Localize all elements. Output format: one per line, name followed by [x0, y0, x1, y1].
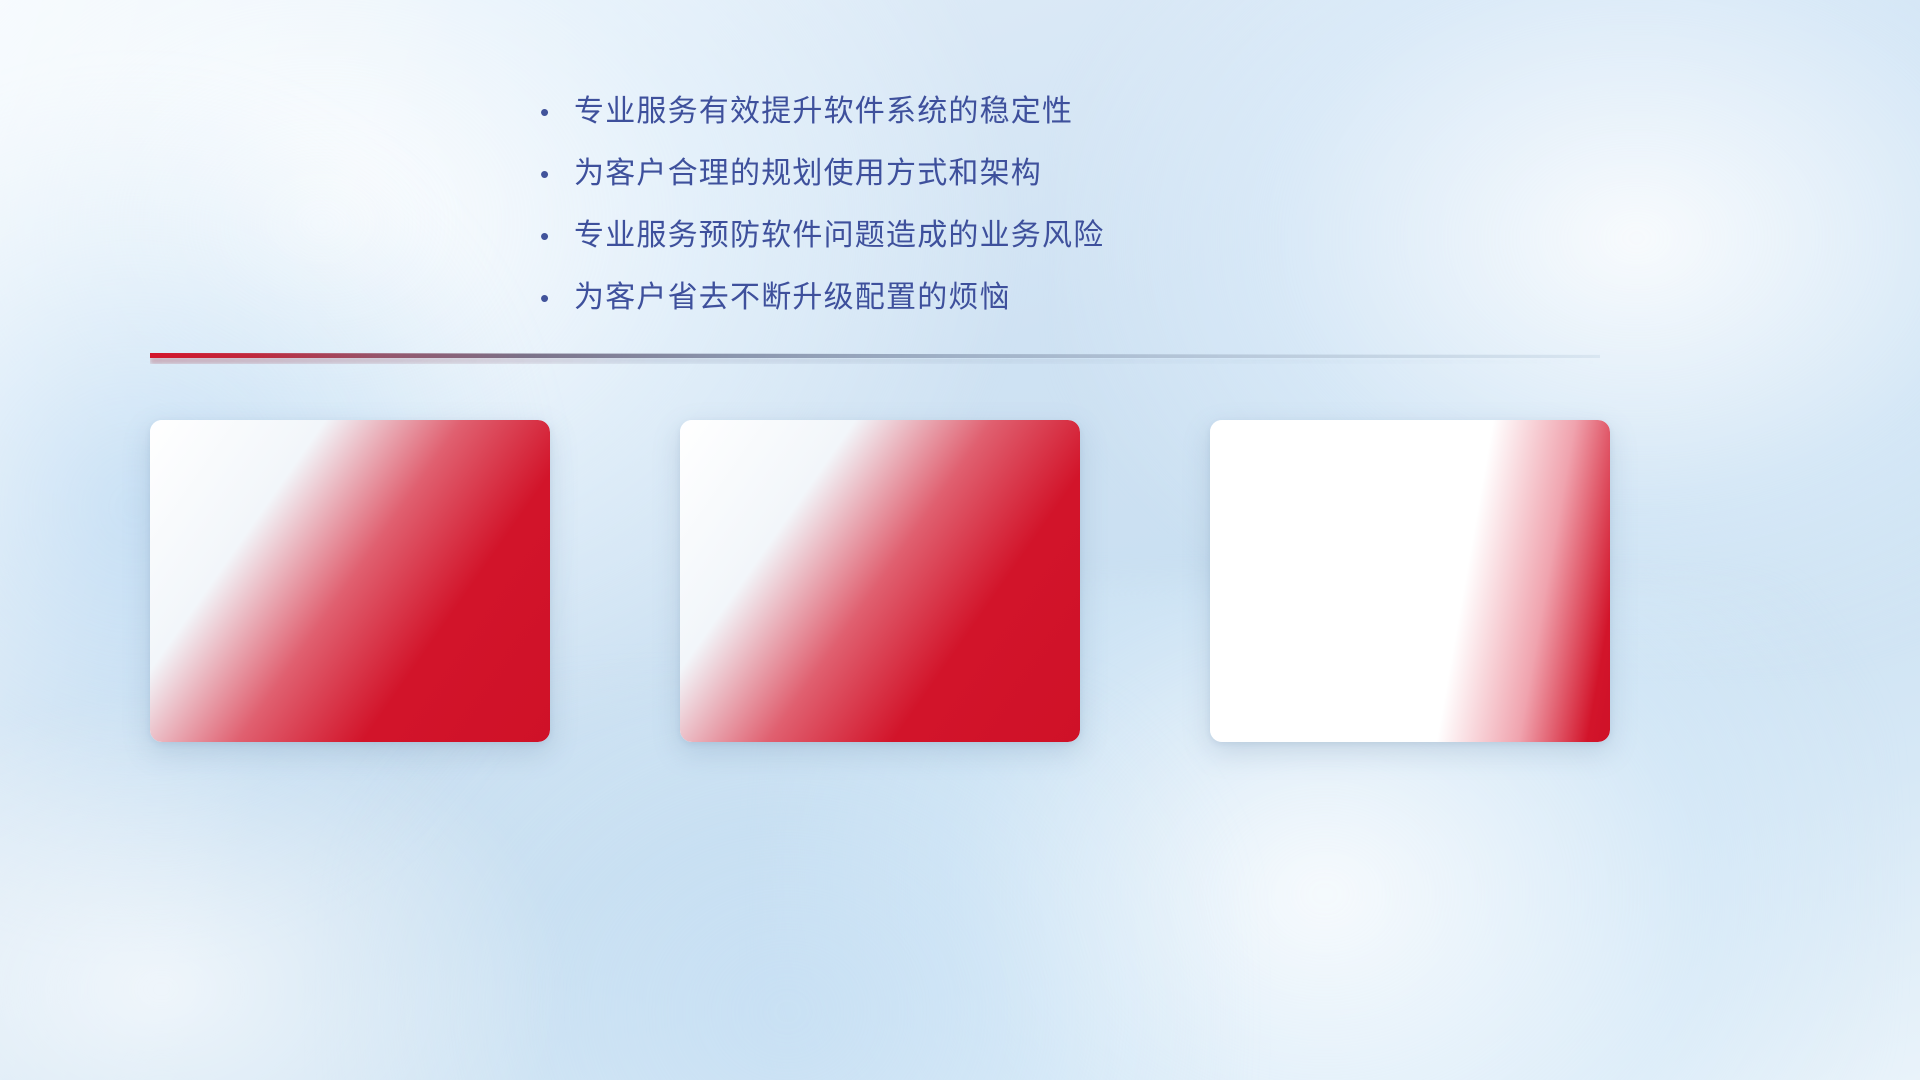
- bullet-dot-icon: •: [540, 216, 574, 256]
- list-item: • 为客户合理的规划使用方式和架构: [540, 154, 1160, 194]
- list-item: • 为客户省去不断升级配置的烦恼: [540, 278, 1160, 318]
- list-item: • 专业服务预防软件问题造成的业务风险: [540, 216, 1160, 256]
- card-accent-divider: [1376, 462, 1379, 540]
- service-card-03[interactable]: 03 03 补丁安装、小版本升级服务 评估版本升级及补丁安装的必要性，并提交实施…: [1210, 420, 1610, 742]
- card-accent-divider: [846, 462, 849, 540]
- card-title: 数据库的规划与部署: [341, 458, 528, 544]
- list-item: • 专业服务有效提升软件系统的稳定性: [540, 92, 1160, 132]
- background-glow-bottom-left: [0, 691, 576, 1080]
- card-number: 03: [1238, 449, 1370, 553]
- service-card-group: 01 01 数据库的规划与部署 协助客户规划数据库环境、数据库参数、数据库空间、…: [150, 420, 1610, 745]
- slide-canvas: • 专业服务有效提升软件系统的稳定性 • 为客户合理的规划使用方式和架构 • 专…: [0, 0, 1920, 1080]
- card-header: 02 02 操作系统安装与设置: [680, 420, 1080, 582]
- card-header: 01 01 数据库的规划与部署: [150, 420, 550, 582]
- card-title: 补丁安装、小版本升级服务: [1401, 437, 1588, 566]
- bullet-dot-icon: •: [540, 278, 574, 318]
- card-accent-divider: [316, 462, 319, 540]
- card-header: 03 03 补丁安装、小版本升级服务: [1210, 420, 1610, 582]
- card-body-text: 操作系统的安装环境网络调查、安装标准及复核步骤、驱动程序的配置以及系统的设置等内…: [680, 582, 1080, 736]
- bullet-text: 为客户省去不断升级配置的烦恼: [574, 278, 1011, 318]
- bullet-dot-icon: •: [540, 92, 574, 132]
- bullet-text: 专业服务有效提升软件系统的稳定性: [574, 92, 1073, 132]
- bullet-dot-icon: •: [540, 154, 574, 194]
- card-title: 操作系统安装与设置: [871, 458, 1058, 544]
- card-body-text: 协助客户规划数据库环境、数据库参数、数据库空间、数据库对象等部署落地。: [150, 582, 550, 736]
- card-number: 02: [708, 449, 840, 553]
- card-number: 01: [178, 449, 310, 553]
- benefits-bullet-list: • 专业服务有效提升软件系统的稳定性 • 为客户合理的规划使用方式和架构 • 专…: [540, 92, 1160, 340]
- service-card-02[interactable]: 02 02 操作系统安装与设置 操作系统的安装环境网络调查、安装标准及复核步骤、…: [680, 420, 1080, 742]
- service-card-01[interactable]: 01 01 数据库的规划与部署 协助客户规划数据库环境、数据库参数、数据库空间、…: [150, 420, 550, 742]
- section-divider: [150, 349, 1600, 365]
- bullet-text: 为客户合理的规划使用方式和架构: [574, 154, 1042, 194]
- divider-shadow: [150, 357, 1600, 364]
- divider-line: [150, 353, 1600, 358]
- bullet-text: 专业服务预防软件问题造成的业务风险: [574, 216, 1104, 256]
- card-body-text: 评估版本升级及补丁安装的必要性，并提交实施计划。: [1210, 582, 1610, 692]
